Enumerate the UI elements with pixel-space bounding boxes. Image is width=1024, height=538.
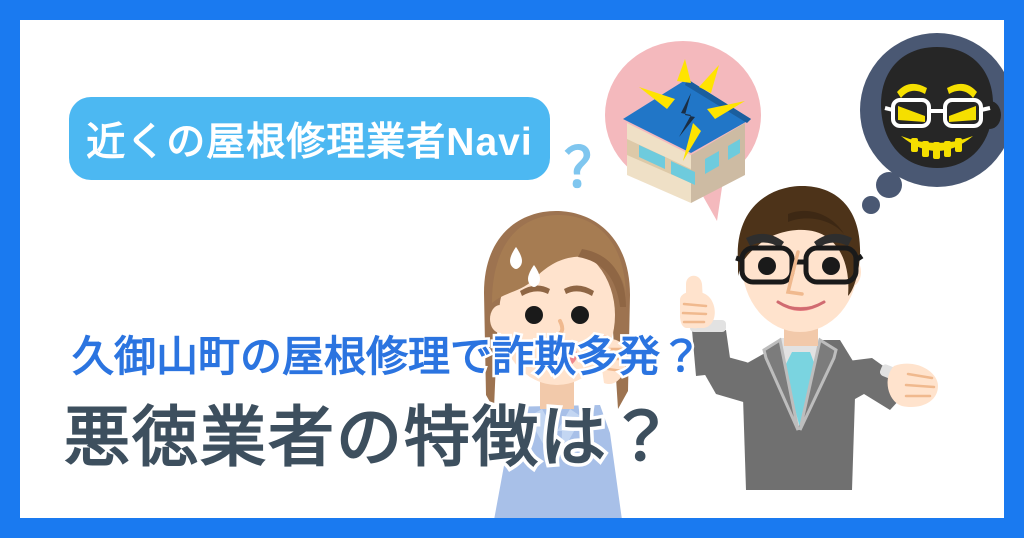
pointing-businessman xyxy=(680,180,945,518)
banner-canvas: 近くの屋根修理業者Navi ？ 久御山町の屋根修理で詐欺多発？ 悪徳業者の特徴は… xyxy=(20,20,1004,518)
site-name-label: 近くの屋根修理業者Navi xyxy=(86,111,532,167)
headline-subtitle: 久御山町の屋根修理で詐欺多発？ xyxy=(72,323,702,384)
site-name-badge[interactable]: 近くの屋根修理業者Navi xyxy=(69,97,550,180)
headline-title: 悪徳業者の特徴は？ xyxy=(64,384,676,480)
banner-frame: 近くの屋根修理業者Navi ？ 久御山町の屋根修理で詐欺多発？ 悪徳業者の特徴は… xyxy=(0,0,1024,538)
